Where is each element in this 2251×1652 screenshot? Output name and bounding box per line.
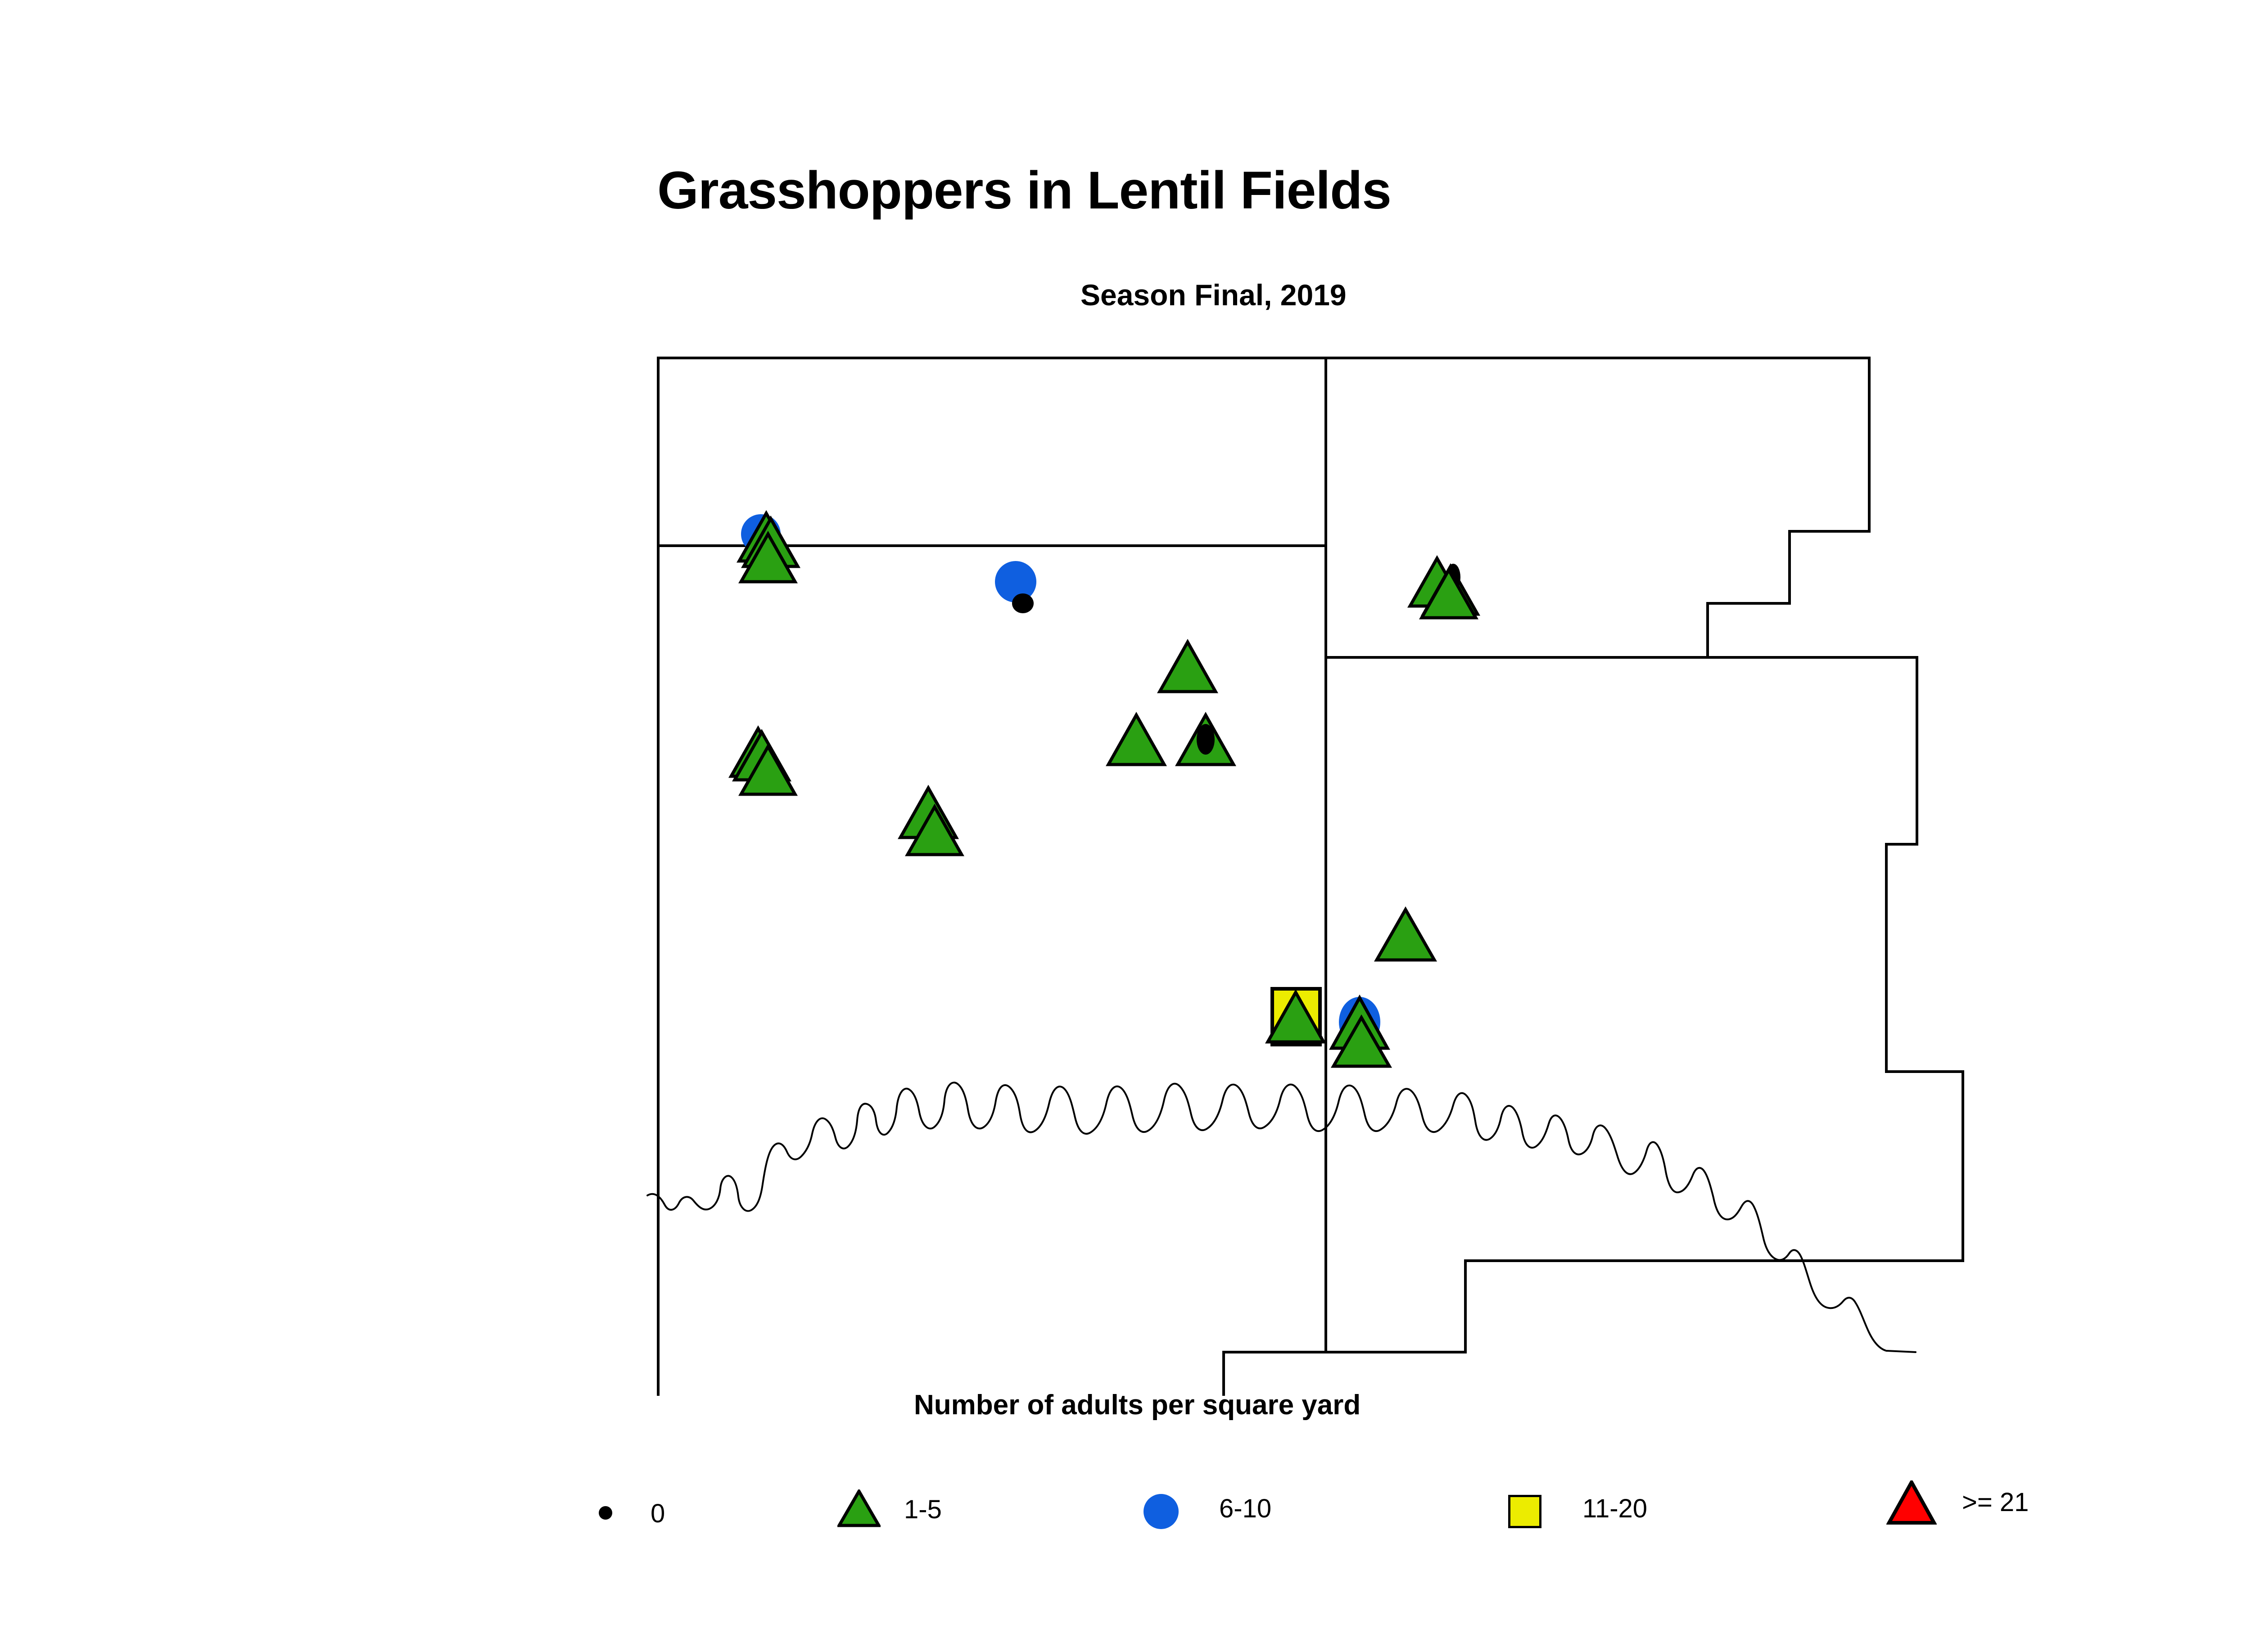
green-triangle-icon — [837, 1489, 881, 1530]
legend-label: 6-10 — [1219, 1496, 1271, 1522]
marker-green-triangle — [1377, 910, 1434, 960]
page-title: Grasshoppers in Lentil Fields — [657, 164, 1391, 217]
legend-title: Number of adults per square yard — [914, 1391, 1361, 1419]
legend-label: 11-20 — [1582, 1496, 1647, 1522]
map-markers — [731, 513, 1478, 1066]
legend: 0 1-5 6-10 11-20 >= 21 — [0, 1459, 2251, 1576]
red-triangle-icon — [1886, 1480, 1937, 1528]
county-boundaries — [647, 358, 1963, 1396]
blue-circle-icon — [1144, 1494, 1179, 1529]
boundary-northeast-county — [1326, 358, 1869, 657]
legend-label: >= 21 — [1962, 1489, 2029, 1516]
marker-green-triangle — [1108, 715, 1164, 765]
marker-black-dot — [1197, 724, 1215, 755]
legend-label: 0 — [651, 1501, 665, 1527]
yellow-square-icon — [1508, 1495, 1541, 1528]
map-canvas — [0, 315, 2251, 1396]
map-figure: Grasshoppers in Lentil Fields Season Fin… — [0, 0, 2251, 1652]
boundary-river — [647, 1082, 1916, 1352]
marker-black-dot — [1012, 593, 1034, 613]
legend-label: 1-5 — [904, 1497, 942, 1523]
page-subtitle: Season Final, 2019 — [1080, 280, 1347, 310]
black-dot-icon — [599, 1506, 612, 1520]
county-map-svg — [0, 315, 2251, 1396]
boundary-outer-west — [658, 358, 1326, 1396]
boundary-east-county — [1224, 657, 1963, 1352]
marker-green-triangle — [1160, 642, 1216, 692]
